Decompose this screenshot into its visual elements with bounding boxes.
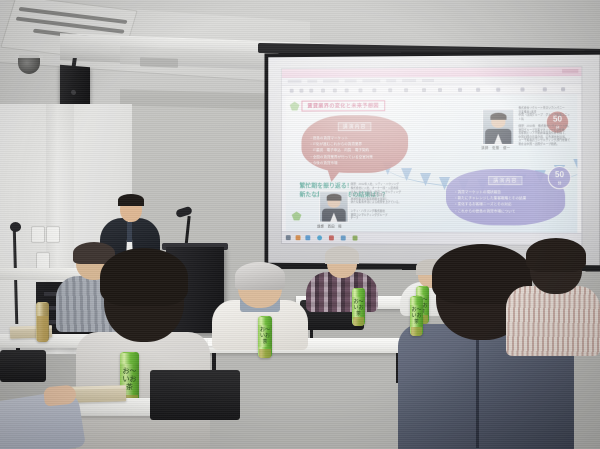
bubble-header-purple: 講演内容 bbox=[488, 176, 522, 185]
attendee-plaid-shirt bbox=[306, 248, 378, 306]
light-switch-panel-2[interactable] bbox=[46, 226, 60, 243]
speaker-portrait-bottom bbox=[319, 191, 349, 223]
speaker-portrait-top bbox=[482, 109, 514, 145]
duration-badge-purple: 50 分 bbox=[548, 166, 571, 189]
leaf-ornament-icon bbox=[290, 102, 300, 111]
tea-bottle[interactable]: お～いお茶 bbox=[258, 316, 272, 358]
tea-bottle[interactable] bbox=[36, 302, 49, 342]
projected-app-window: 賃貸業界の変化と未来予想図 bbox=[282, 67, 582, 245]
bubble-header-red: 講演内容 bbox=[338, 122, 372, 131]
speaker-bottom-name: 講師 西田 翔 bbox=[317, 223, 342, 228]
duration-number: 50 bbox=[549, 167, 570, 181]
presentation-slide: 賃貸業界の変化と未来予想図 bbox=[286, 94, 578, 234]
seminar-room-photo: 賃貸業界の変化と未来予想図 bbox=[0, 0, 600, 449]
chair-row-2 bbox=[0, 350, 46, 382]
lecture-content-bubble-red: 講演内容 ・徳島の賃貸マーケット ・IT化が進むこれからの賃貸業界 IT重説 電… bbox=[301, 115, 408, 173]
attendee-striped-shirt-right bbox=[506, 244, 600, 354]
bubble-bullets-red: ・徳島の賃貸マーケット ・IT化が進むこれからの賃貸業界 IT重説 電子申込 内… bbox=[309, 135, 402, 166]
attendee-dark-hair-white-top bbox=[76, 258, 210, 449]
tea-bottle[interactable]: お～いお茶 bbox=[352, 288, 365, 326]
speaker-top-bio: 経歴：2010年 株式会社リクルート入社。 賃貸グループ営業マネジャーに就任後、… bbox=[518, 125, 571, 147]
notebook[interactable] bbox=[70, 385, 126, 402]
slide-title: 賃貸業界の変化と未来予想図 bbox=[301, 100, 384, 111]
bullet: ・今後の賃貸市場 bbox=[309, 160, 402, 166]
bubble-bullets-purple: ・賃貸マーケットの現状報告 ・新たにチャレンジした集客戦略とその結果 ・変化する… bbox=[454, 189, 559, 214]
duration-unit: 分 bbox=[549, 181, 570, 185]
light-switch-panel[interactable] bbox=[31, 226, 45, 243]
speaker-top-name: 講師 佐藤 健一 bbox=[481, 145, 510, 150]
microphone-icon bbox=[10, 222, 21, 232]
speaker-bottom-company: シティ・ハウジング株式会社 賃貸コンサルティンググループ チーフ bbox=[351, 210, 404, 221]
chair-foreground bbox=[150, 370, 240, 420]
ceiling-recess bbox=[140, 57, 178, 67]
speaker-bottom-bio: 経歴：2012年入社。シティ・ハウジング 株式会社に入社。オーナー様・入居者様 … bbox=[351, 183, 404, 205]
bullet: ・これからの徳島の賃貸市場について bbox=[454, 208, 559, 215]
speaker-top-company: 株式会社リクルート住まいカンパニー 営業推進1本部 中国・四国グループ グループ… bbox=[518, 106, 571, 121]
leaf-ornament-icon-2 bbox=[292, 211, 302, 220]
projection-screen: 賃貸業界の変化と未来予想図 bbox=[268, 55, 600, 266]
tea-bottle[interactable]: お～いお茶 bbox=[410, 296, 423, 336]
